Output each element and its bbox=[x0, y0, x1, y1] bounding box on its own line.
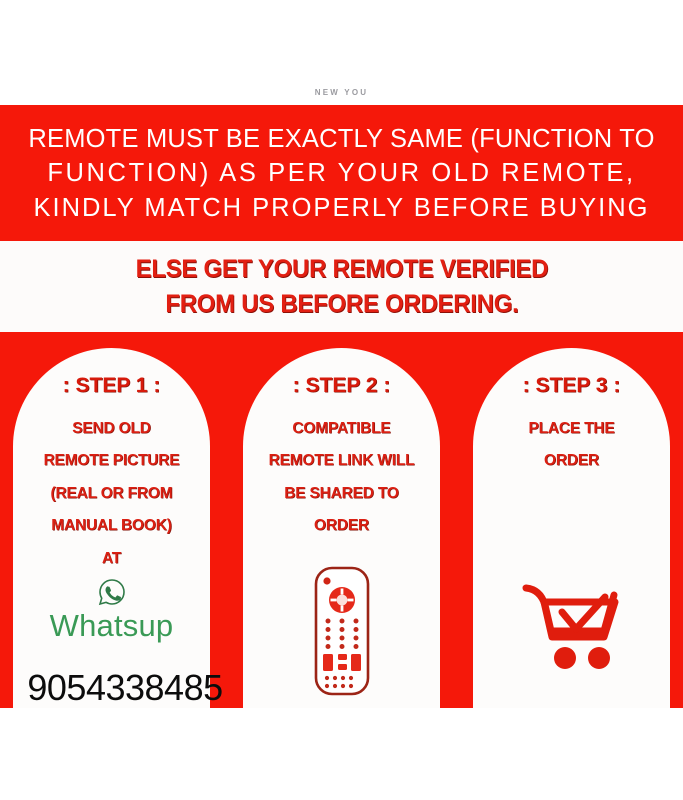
step-3-title: : STEP 3 : bbox=[523, 374, 621, 398]
steps-section: : STEP 1 : SEND OLD REMOTE PICTURE (REAL… bbox=[0, 332, 683, 708]
step-1-line-4: MANUAL BOOK) bbox=[51, 518, 171, 534]
step-2-line-4: ORDER bbox=[314, 518, 369, 534]
step-1-line-1: SEND OLD bbox=[72, 421, 151, 437]
brand-strip: NEW YOU bbox=[0, 82, 683, 102]
step-1-title: : STEP 1 : bbox=[63, 374, 161, 398]
step-1-line-2: REMOTE PICTURE bbox=[44, 453, 180, 469]
remote-graphic-wrap bbox=[313, 565, 371, 702]
verification-notice-line-1: ELSE GET YOUR REMOTE VERIFIED bbox=[135, 256, 548, 282]
step-card-1: : STEP 1 : SEND OLD REMOTE PICTURE (REAL… bbox=[13, 348, 210, 708]
warning-banner-line-3: KINDLY MATCH PROPERLY BEFORE BUYING bbox=[33, 196, 649, 222]
warning-banner-line-2: FUNCTION) AS PER YOUR OLD REMOTE, bbox=[47, 161, 635, 187]
whatsapp-block: Whatsup bbox=[13, 577, 210, 641]
brand-name: NEW YOU bbox=[315, 88, 368, 97]
step-2-line-3: BE SHARED TO bbox=[284, 486, 398, 502]
cart-graphic-wrap bbox=[520, 579, 624, 680]
warning-banner-line-1: REMOTE MUST BE EXACTLY SAME (FUNCTION TO bbox=[28, 127, 654, 153]
whatsapp-icon bbox=[97, 577, 127, 607]
step-1-body: SEND OLD REMOTE PICTURE (REAL OR FROM MA… bbox=[13, 412, 210, 575]
remote-control-icon bbox=[313, 565, 371, 702]
step-3-body: PLACE THE ORDER bbox=[473, 412, 670, 477]
promo-poster: NEW YOU REMOTE MUST BE EXACTLY SAME (FUN… bbox=[0, 0, 683, 800]
step-2-line-1: COMPATIBLE bbox=[292, 421, 390, 437]
whatsapp-label: Whatsup bbox=[50, 610, 174, 641]
step-card-3: : STEP 3 : PLACE THE ORDER bbox=[473, 348, 670, 708]
step-3-line-1: PLACE THE bbox=[528, 421, 614, 437]
step-card-2: : STEP 2 : COMPATIBLE REMOTE LINK WILL B… bbox=[243, 348, 440, 708]
step-1-line-5: AT bbox=[102, 551, 121, 567]
step-2-line-2: REMOTE LINK WILL bbox=[269, 453, 415, 469]
whatsapp-phone-number[interactable]: 9054338485 bbox=[25, 670, 225, 706]
warning-banner: REMOTE MUST BE EXACTLY SAME (FUNCTION TO… bbox=[0, 105, 683, 241]
step-2-title: : STEP 2 : bbox=[293, 374, 391, 398]
step-1-line-3: (REAL OR FROM bbox=[51, 486, 173, 502]
shopping-cart-check-icon bbox=[520, 579, 624, 680]
step-2-body: COMPATIBLE REMOTE LINK WILL BE SHARED TO… bbox=[243, 412, 440, 542]
verification-notice-line-2: FROM US BEFORE ORDERING. bbox=[165, 291, 518, 317]
step-3-line-2: ORDER bbox=[544, 453, 599, 469]
verification-notice: ELSE GET YOUR REMOTE VERIFIED FROM US BE… bbox=[0, 241, 683, 332]
